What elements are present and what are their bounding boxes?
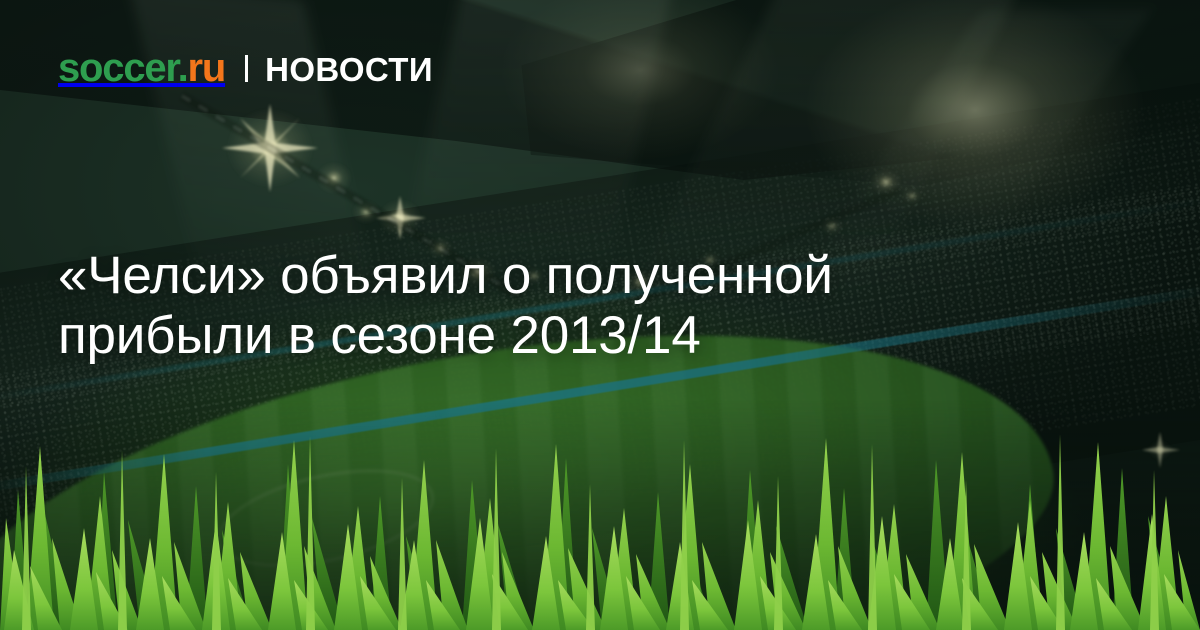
- logo-word-ru: ru: [188, 46, 226, 90]
- foreground-grass: [0, 400, 1200, 630]
- share-card: soccer.ru НОВОСТИ «Челси» объявил о полу…: [0, 0, 1200, 630]
- site-header: soccer.ru НОВОСТИ: [58, 48, 433, 88]
- article-headline: «Челси» объявил о полученной прибыли в с…: [58, 246, 998, 366]
- header-separator: [245, 55, 248, 82]
- section-label-novosti: НОВОСТИ: [265, 53, 433, 86]
- logo-word-soccer: soccer: [58, 46, 178, 90]
- logo-dot: .: [178, 46, 188, 90]
- grass-blades-icon: [0, 400, 1200, 630]
- site-logo[interactable]: soccer.ru: [58, 48, 225, 88]
